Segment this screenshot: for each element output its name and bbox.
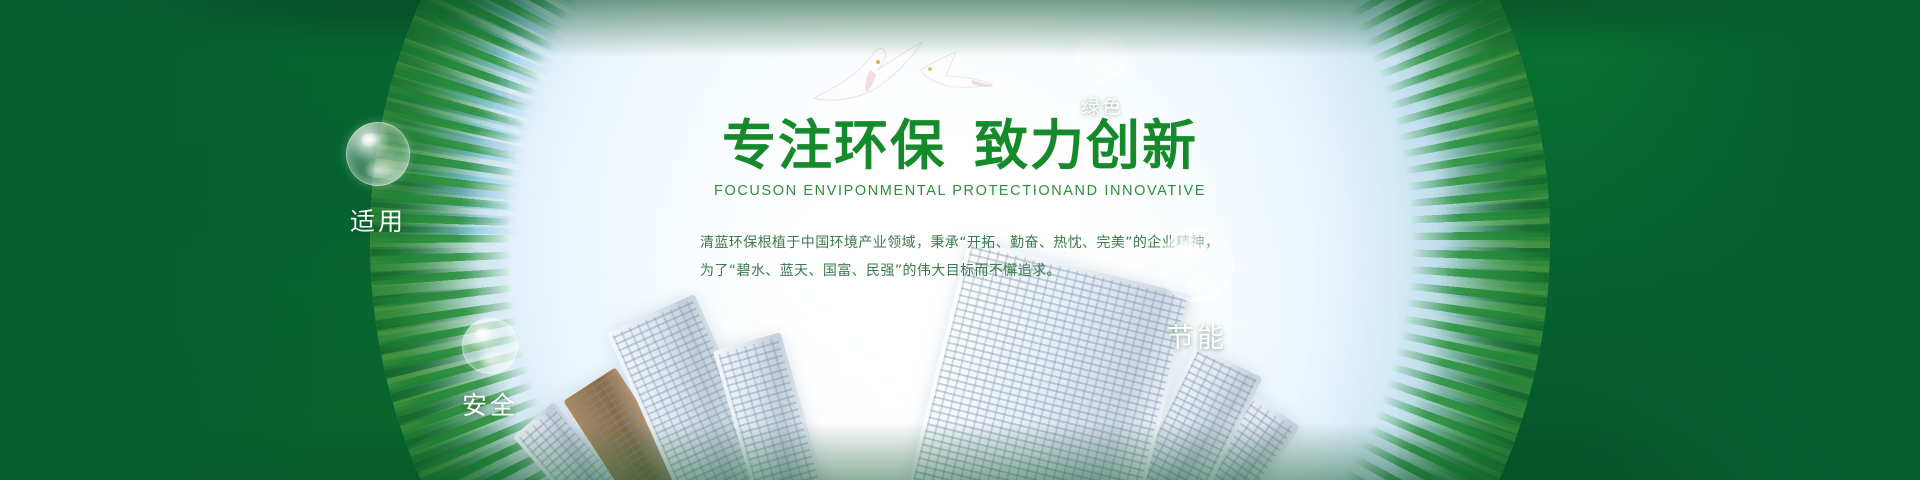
page-title: 专注环保致力创新 (0, 118, 1920, 175)
feature-bubble-jieneng: 节能 (1132, 228, 1262, 355)
bubble-icon (1160, 228, 1234, 302)
bubble-label: 绿色 (1042, 92, 1162, 119)
bubble-label: 安全 (430, 386, 550, 422)
page-subtitle: FOCUSON ENVIPONMENTAL PROTECTIONAND INNO… (0, 183, 1920, 199)
bubble-icon (462, 318, 518, 374)
bubble-label: 适用 (318, 202, 438, 238)
bubble-icon (346, 122, 410, 186)
feature-bubble-lvse: 绿色 (1042, 32, 1162, 119)
headline-part-2: 致力创新 (974, 114, 1198, 177)
feature-bubble-anquan: 安全 (430, 318, 550, 422)
headline-part-1: 专注环保 (722, 114, 946, 177)
hero-banner: 专注环保致力创新 FOCUSON ENVIPONMENTAL PROTECTIO… (0, 0, 1920, 480)
bubble-label: 节能 (1132, 316, 1262, 355)
bubble-icon (1077, 32, 1127, 82)
feature-bubble-shiyong: 适用 (318, 122, 438, 238)
hero-copy: 专注环保致力创新 FOCUSON ENVIPONMENTAL PROTECTIO… (0, 118, 1920, 285)
